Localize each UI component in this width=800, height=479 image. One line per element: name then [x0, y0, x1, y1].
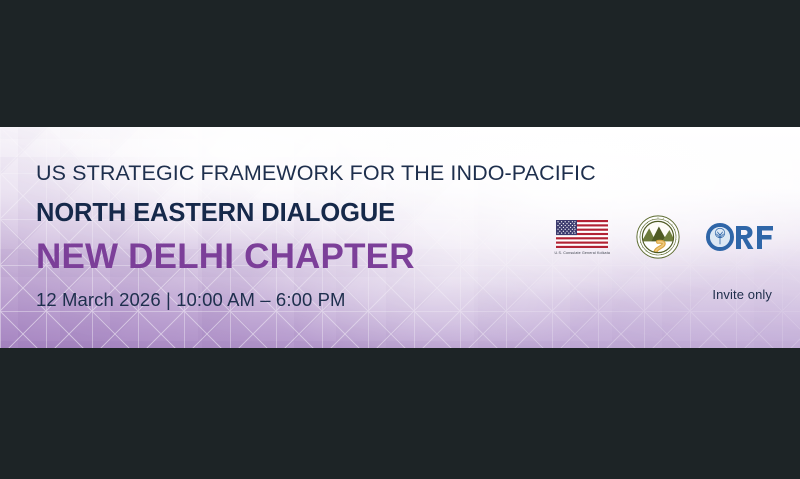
orf-logo-icon: [706, 222, 776, 252]
banner-text-block: US STRATEGIC FRAMEWORK FOR THE INDO-PACI…: [36, 163, 596, 310]
page-root: US STRATEGIC FRAMEWORK FOR THE INDO-PACI…: [0, 0, 800, 479]
banner-kicker: US STRATEGIC FRAMEWORK FOR THE INDO-PACI…: [36, 163, 596, 185]
us-consulate-caption: U.S. Consulate General Kolkata: [555, 251, 610, 255]
event-banner: US STRATEGIC FRAMEWORK FOR THE INDO-PACI…: [0, 127, 800, 348]
us-flag-icon: [556, 220, 608, 248]
banner-logo-row: U.S. Consulate General Kolkata: [555, 215, 776, 259]
banner-datetime: 12 March 2026 | 10:00 AM – 6:00 PM: [36, 291, 596, 310]
invite-only-note: Invite only: [712, 287, 772, 302]
banner-chapter: NEW DELHI CHAPTER: [36, 239, 596, 274]
logo-us-consulate: U.S. Consulate General Kolkata: [555, 220, 610, 255]
mountain-seal-icon: [636, 215, 680, 259]
banner-title: NORTH EASTERN DIALOGUE: [36, 201, 596, 227]
